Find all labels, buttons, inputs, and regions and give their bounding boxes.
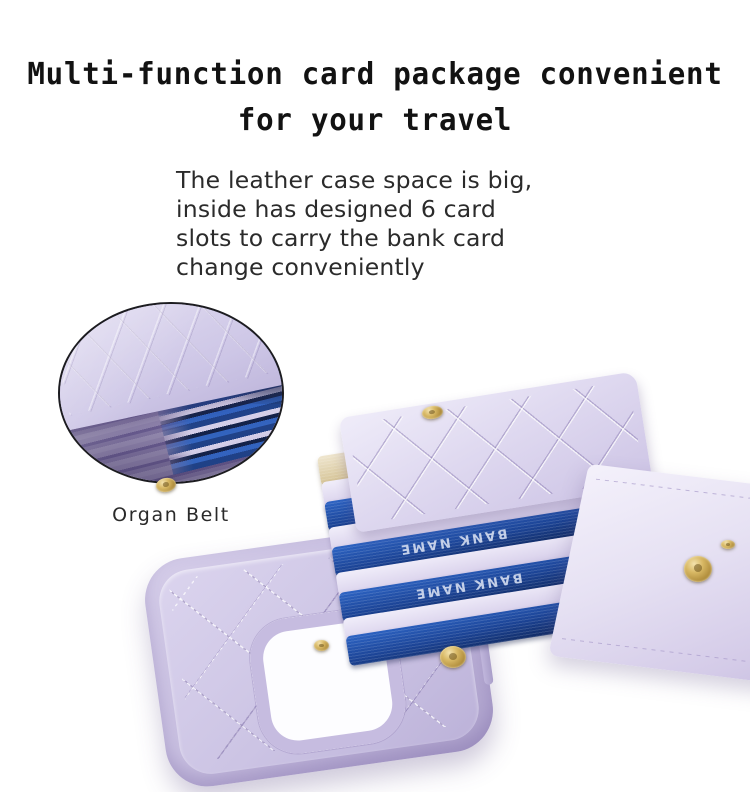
description-line-4: change conveniently (176, 253, 596, 282)
flap-seam-top (596, 479, 750, 514)
headline-line-2: for your travel (11, 98, 739, 144)
description-line-1: The leather case space is big, (176, 166, 596, 195)
description-line-3: slots to carry the bank card (176, 224, 596, 253)
product-photo: BANK NAME BANK NAME BANK NAME BANK NAME (150, 388, 750, 749)
snap-rivet-gold (684, 556, 712, 582)
page-headline: Multi-function card package convenient f… (11, 52, 739, 144)
snap-rivet-gold (155, 477, 177, 494)
headline-line-1: Multi-function card package convenient (27, 57, 722, 92)
snap-rivet-gold (721, 540, 735, 549)
flap-seam-bottom (562, 638, 750, 673)
description-line-2: inside has designed 6 card (176, 195, 596, 224)
product-description: The leather case space is big, inside ha… (176, 166, 596, 282)
snap-rivet-gold (314, 640, 329, 651)
snap-rivet-gold (440, 646, 466, 668)
